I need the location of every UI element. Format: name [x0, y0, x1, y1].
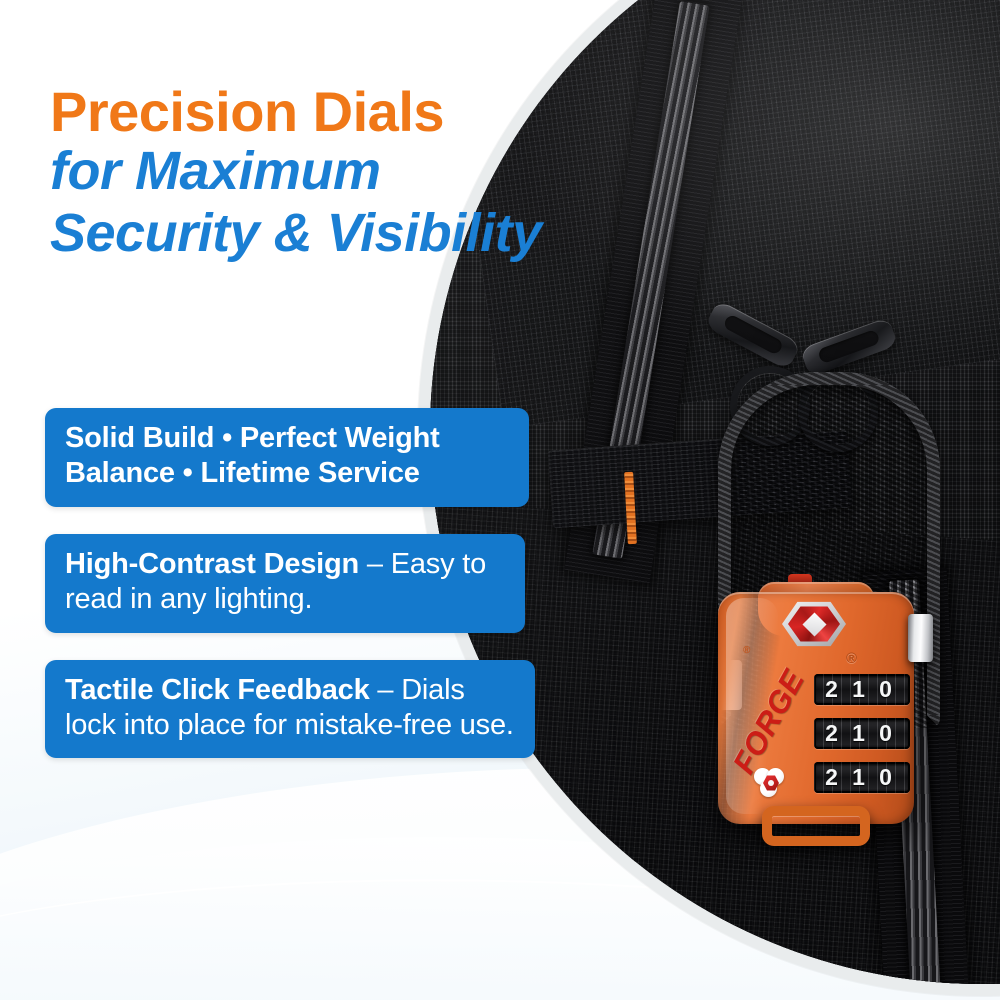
tsa-approved-icon	[782, 600, 846, 648]
feature-list: Solid Build • Perfect Weight Balance • L…	[45, 408, 545, 785]
lock-body: ® ® FORGE 2 1 0	[718, 592, 914, 824]
forge-hex-logo-icon	[754, 768, 788, 798]
headline-line-1: Precision Dials	[50, 82, 610, 141]
headline: Precision Dials for Maximum Security & V…	[50, 82, 610, 264]
dial-digit: 1	[845, 718, 872, 749]
dial-digit: 1	[845, 674, 872, 705]
dial-digit: 2	[818, 718, 845, 749]
registered-trademark-icon: ®	[846, 650, 857, 667]
feature-callout-1: Solid Build • Perfect Weight Balance • L…	[45, 408, 529, 507]
dial-row[interactable]: 2 1 0	[814, 762, 910, 793]
headline-line-3: Security & Visibility	[50, 203, 610, 265]
dial-row[interactable]: 2 1 0	[814, 674, 910, 705]
dial-digit: 2	[818, 762, 845, 793]
lock-reset-button[interactable]	[908, 614, 933, 662]
dial-digit: 0	[872, 762, 899, 793]
product-feature-image: ® ® FORGE 2 1 0	[0, 0, 1000, 1000]
feature-callout-3: Tactile Click Feedback – Dials lock into…	[45, 660, 535, 759]
dial-digit: 1	[845, 762, 872, 793]
dial-digit: 0	[872, 674, 899, 705]
registered-trademark-small-icon: ®	[743, 645, 750, 656]
feature-lead: Solid Build • Perfect Weight Balance • L…	[65, 422, 440, 489]
combination-dials: 2 1 0 2 1 0 2 1 0	[814, 674, 910, 806]
tsa-combination-lock: ® ® FORGE 2 1 0	[718, 592, 914, 844]
dial-digit: 0	[872, 718, 899, 749]
feature-lead: Tactile Click Feedback	[65, 674, 370, 706]
headline-line-2: for Maximum	[50, 141, 610, 203]
feature-callout-2: High-Contrast Design – Easy to read in a…	[45, 534, 525, 633]
feature-lead: High-Contrast Design	[65, 548, 359, 580]
dial-row[interactable]: 2 1 0	[814, 718, 910, 749]
lock-bottom-loop	[762, 806, 870, 846]
dial-digit: 2	[818, 674, 845, 705]
